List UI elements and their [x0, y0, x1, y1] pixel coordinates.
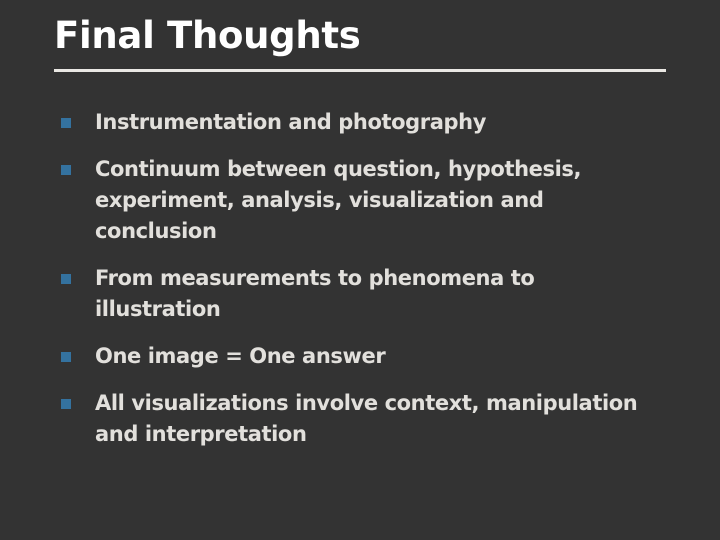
bullet-list: Instrumentation and photography Continuu… — [57, 107, 657, 450]
square-bullet-icon — [61, 274, 71, 284]
list-item: From measurements to phenomena to illust… — [57, 263, 657, 325]
square-bullet-icon — [61, 352, 71, 362]
list-item-label: All visualizations involve context, mani… — [95, 388, 657, 450]
slide-canvas: Final Thoughts Instrumentation and photo… — [0, 0, 720, 540]
title-divider — [54, 69, 666, 72]
page-title: Final Thoughts — [54, 14, 666, 58]
list-item: Instrumentation and photography — [57, 107, 657, 138]
list-item: Continuum between question, hypothesis, … — [57, 154, 657, 247]
list-item-label: Instrumentation and photography — [95, 107, 657, 138]
list-item-label: One image = One answer — [95, 341, 657, 372]
list-item: One image = One answer — [57, 341, 657, 372]
title-block: Final Thoughts — [54, 14, 666, 58]
square-bullet-icon — [61, 399, 71, 409]
list-item-label: Continuum between question, hypothesis, … — [95, 154, 657, 247]
list-item: All visualizations involve context, mani… — [57, 388, 657, 450]
square-bullet-icon — [61, 118, 71, 128]
list-item-label: From measurements to phenomena to illust… — [95, 263, 657, 325]
square-bullet-icon — [61, 165, 71, 175]
